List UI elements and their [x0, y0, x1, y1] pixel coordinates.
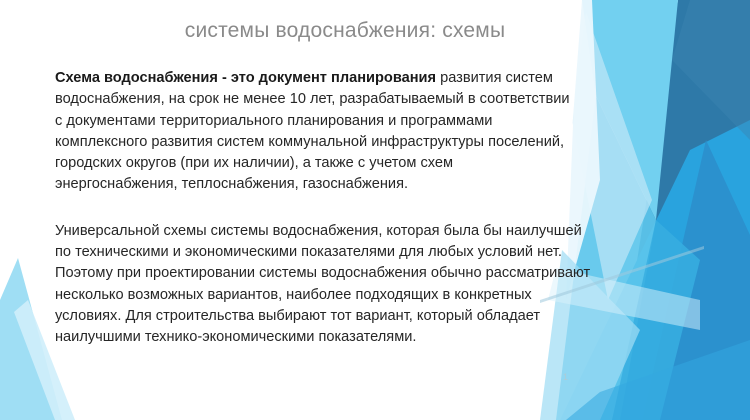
- deco-shape-bottom-accent: [566, 340, 750, 420]
- paragraph-2: Универсальной схемы системы водоснабжени…: [55, 221, 595, 349]
- deco-shape-left-wedge: [0, 258, 62, 420]
- paragraph-1-rest: развития систем водоснабжения, на срок н…: [55, 70, 570, 192]
- paragraph-2-rest: Универсальной схемы системы водоснабжени…: [55, 223, 590, 345]
- paragraph-1-lead: Схема водоснабжения - это документ плани…: [55, 70, 436, 86]
- page-title: системы водоснабжения: схемы: [0, 18, 690, 43]
- presentation-slide: системы водоснабжения: схемы Схема водос…: [0, 0, 750, 420]
- deco-shape-mid-blue-diagonal: [642, 140, 750, 420]
- slide-number: 1: [563, 372, 568, 382]
- deco-shape-mid-wedge: [612, 220, 700, 420]
- paragraph-1: Схема водоснабжения - это документ плани…: [55, 68, 575, 196]
- slide-body: Схема водоснабжения - это документ плани…: [55, 68, 575, 369]
- deco-shape-dark-right: [612, 0, 750, 420]
